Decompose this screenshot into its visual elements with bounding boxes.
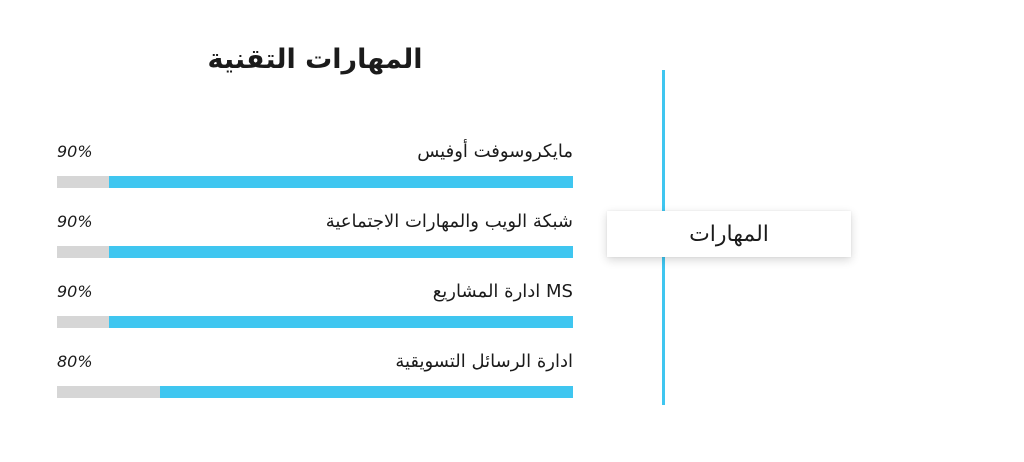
- skill-progress-track: [57, 316, 573, 328]
- skill-label: ادارة الرسائل التسويقية: [395, 350, 573, 374]
- skill-label: شبكة الويب والمهارات الاجتماعية: [326, 210, 573, 234]
- skill-label: مايكروسوفت أوفيس: [417, 140, 573, 164]
- skill-progress-track: [57, 176, 573, 188]
- skill-header: شبكة الويب والمهارات الاجتماعية 90%: [57, 210, 573, 240]
- skill-progress-fill: [160, 386, 573, 398]
- list-item: ادارة الرسائل التسويقية 80%: [57, 350, 573, 420]
- skill-header: ادارة الرسائل التسويقية 80%: [57, 350, 573, 380]
- section-card-label: المهارات: [689, 222, 769, 247]
- section-panel: المهارات: [607, 60, 857, 410]
- list-item: مايكروسوفت أوفيس 90%: [57, 140, 573, 210]
- skill-progress-fill: [109, 246, 573, 258]
- list-item: MS ادارة المشاريع 90%: [57, 280, 573, 350]
- skill-value: 90%: [57, 210, 93, 234]
- skill-label: MS ادارة المشاريع: [433, 280, 573, 304]
- skill-header: MS ادارة المشاريع 90%: [57, 280, 573, 310]
- section-card: المهارات: [607, 211, 851, 257]
- skill-value: 90%: [57, 280, 93, 304]
- skills-infographic: المهارات التقنية مايكروسوفت أوفيس 90% شب…: [0, 0, 1024, 462]
- skill-progress-track: [57, 386, 573, 398]
- list-item: شبكة الويب والمهارات الاجتماعية 90%: [57, 210, 573, 280]
- skill-progress-fill: [109, 176, 573, 188]
- skill-value: 80%: [57, 350, 93, 374]
- skill-value: 90%: [57, 140, 93, 164]
- skill-progress-fill: [109, 316, 573, 328]
- skill-progress-track: [57, 246, 573, 258]
- skills-list: مايكروسوفت أوفيس 90% شبكة الويب والمهارا…: [57, 140, 573, 420]
- page-title: المهارات التقنية: [57, 44, 573, 75]
- skill-header: مايكروسوفت أوفيس 90%: [57, 140, 573, 170]
